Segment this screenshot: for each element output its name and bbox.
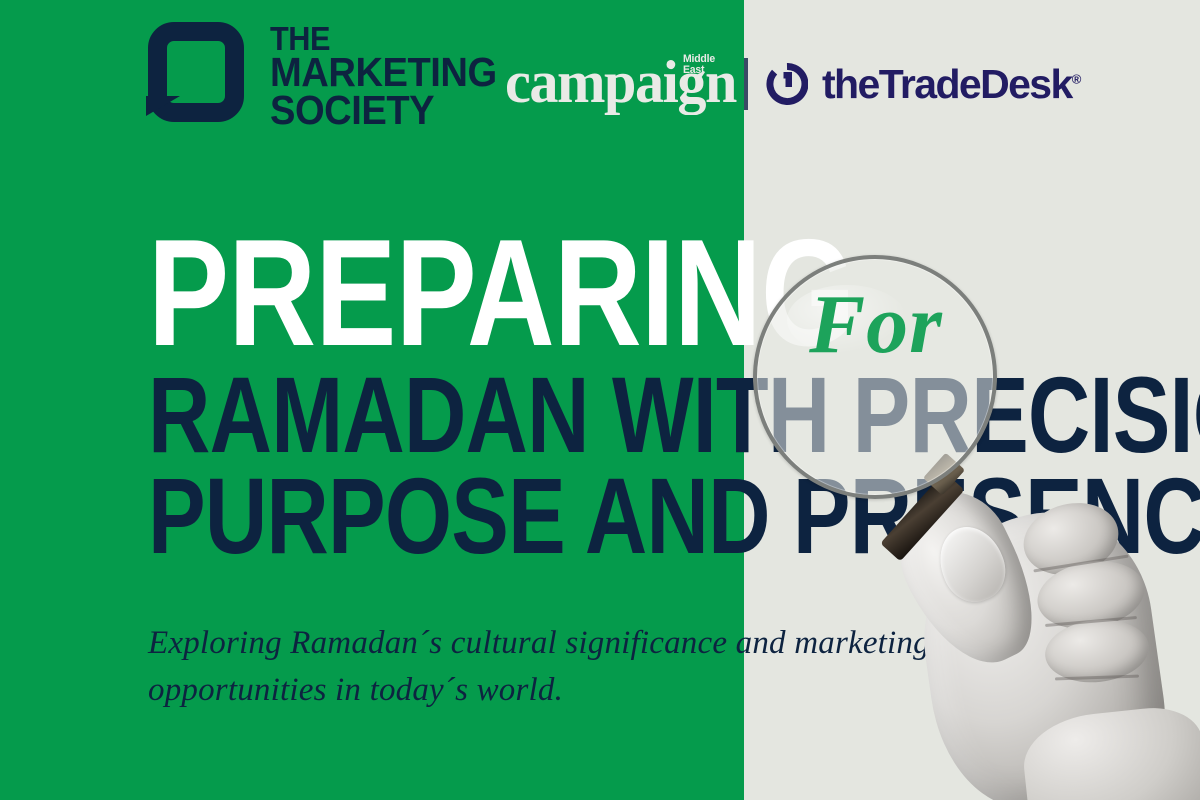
headline-line-2: RAMADAN WITH PRECISION, bbox=[148, 369, 948, 462]
registered-trademark-icon: ® bbox=[1072, 71, 1082, 86]
speech-bubble-tail bbox=[146, 96, 180, 116]
trade-desk-name: theTradeDesk bbox=[822, 61, 1072, 107]
subtitle-text: Exploring Ramadan´s cultural significanc… bbox=[148, 620, 978, 714]
speech-bubble-icon bbox=[144, 18, 256, 146]
trade-desk-circle-icon bbox=[766, 63, 808, 105]
headline-block: PREPARING RAMADAN WITH PRECISION, PURPOS… bbox=[148, 228, 1148, 562]
marketing-society-wordmark: THE MARKETING SOCIETY bbox=[270, 24, 480, 130]
logo-divider bbox=[744, 58, 748, 110]
headline-line-1: PREPARING bbox=[148, 228, 948, 359]
poster-canvas: THE MARKETING SOCIETY campaign Middle Ea… bbox=[0, 0, 1200, 800]
trade-desk-logo[interactable]: theTradeDesk® bbox=[766, 56, 1081, 112]
marketing-society-logo[interactable]: THE MARKETING SOCIETY bbox=[144, 18, 474, 146]
campaign-region-label: Middle East bbox=[683, 54, 732, 76]
logo-row: THE MARKETING SOCIETY campaign Middle Ea… bbox=[0, 0, 1200, 160]
trade-desk-wordmark: theTradeDesk® bbox=[822, 64, 1081, 105]
campaign-logo[interactable]: campaign Middle East bbox=[505, 52, 735, 114]
ms-line-3: SOCIETY bbox=[270, 92, 465, 130]
headline-line-3: PURPOSE AND PRESENCE bbox=[148, 470, 948, 563]
